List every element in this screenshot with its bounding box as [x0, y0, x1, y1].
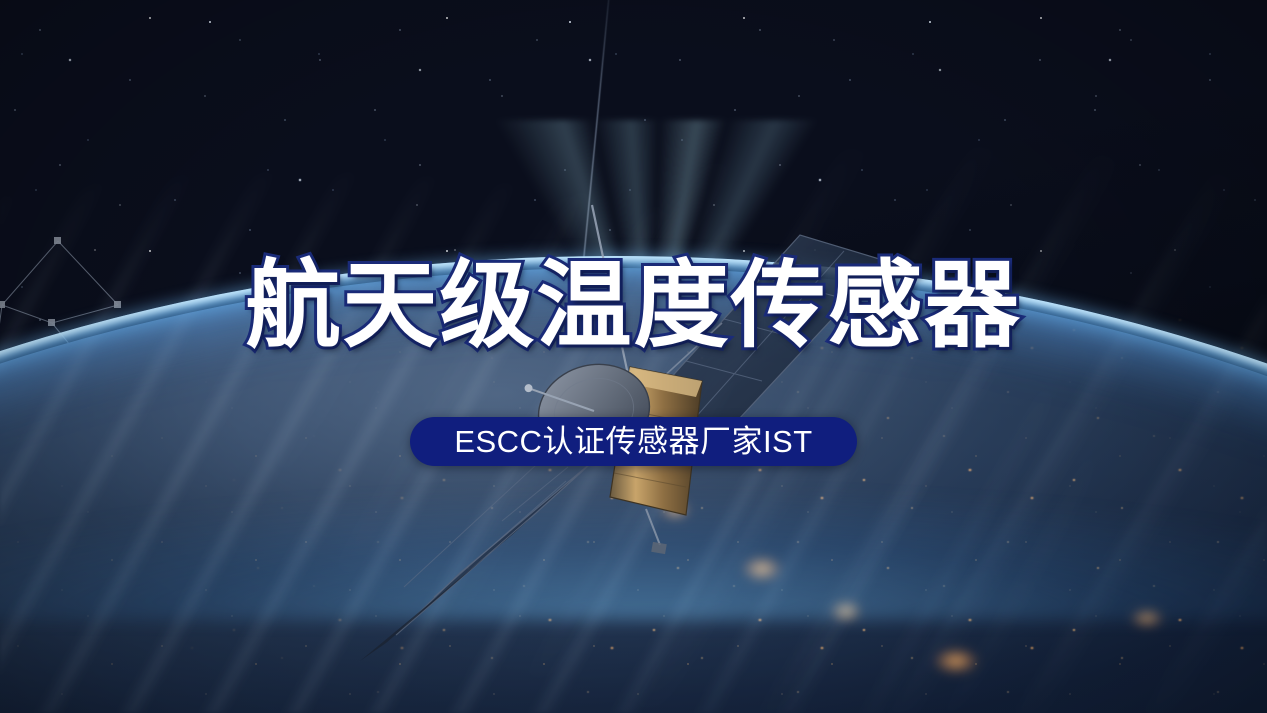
subtitle-text: ESCC认证传感器厂家IST [454, 426, 812, 457]
page-title: 航天级温度传感器 [0, 252, 1267, 360]
hero-banner: 航天级温度传感器 ESCC认证传感器厂家IST [0, 0, 1267, 713]
subtitle-pill: ESCC认证传感器厂家IST [410, 417, 856, 466]
subtitle-banner: ESCC认证传感器厂家IST [0, 417, 1267, 466]
